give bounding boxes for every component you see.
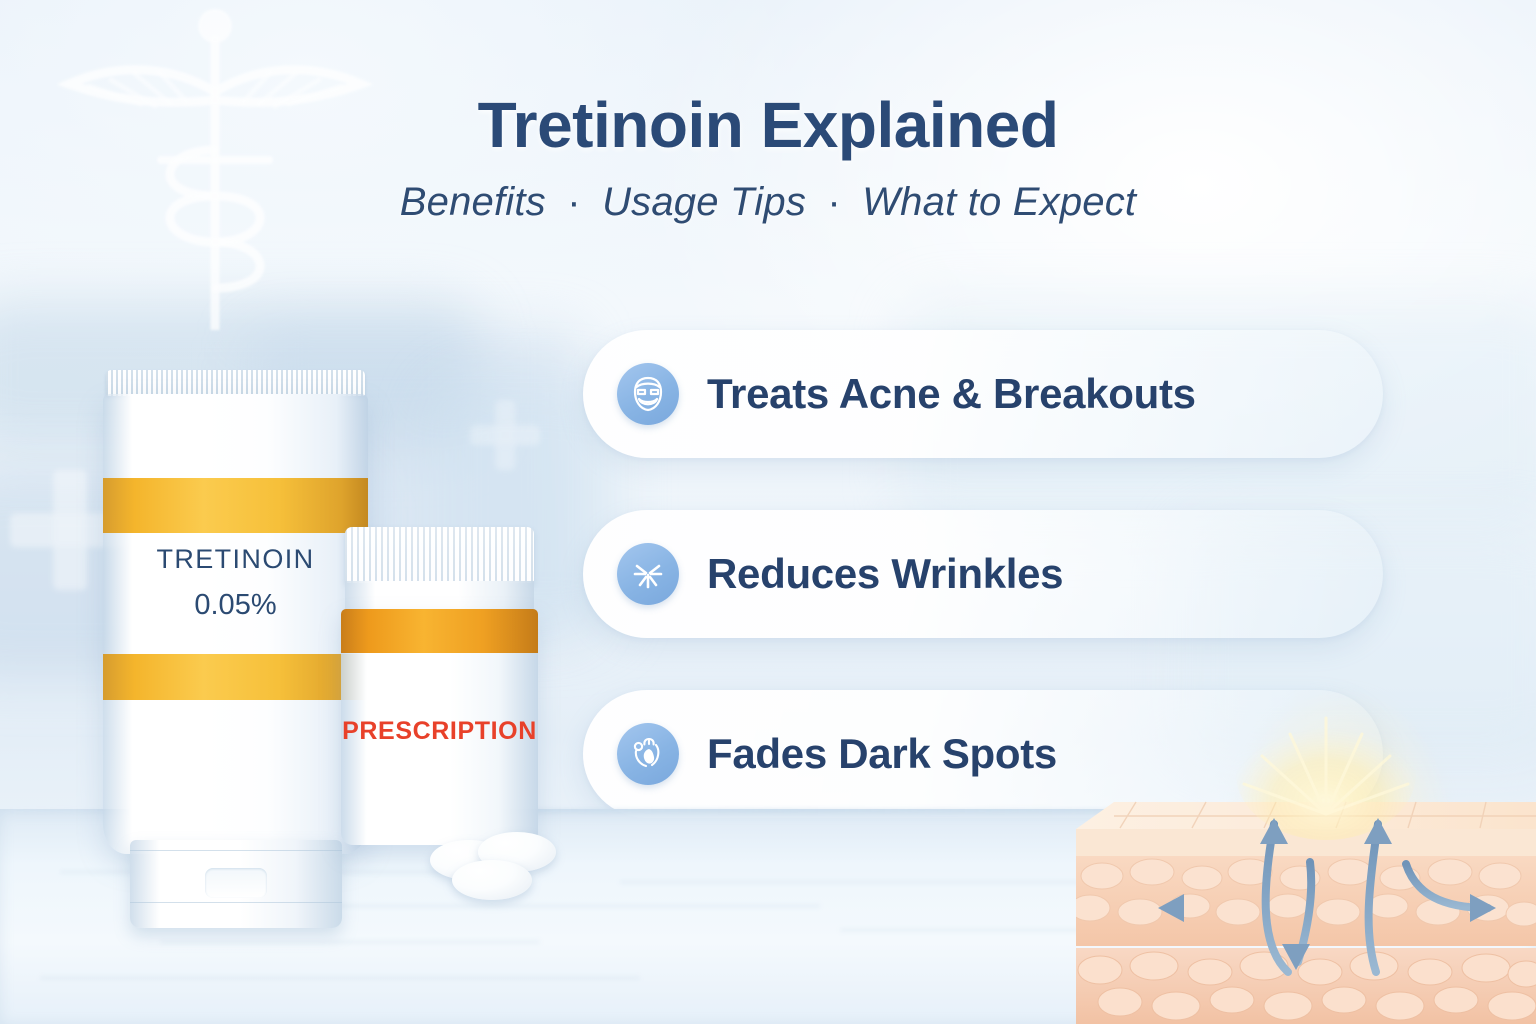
bottle-color-band <box>341 609 538 653</box>
subtitle-part-usage-tips: Usage Tips <box>602 180 806 224</box>
tube-crimp-seal <box>106 370 365 396</box>
skin-sparkle <box>1236 708 1416 840</box>
starburst-icon <box>617 543 679 605</box>
benefit-label: Reduces Wrinkles <box>707 550 1063 598</box>
bottle-neck <box>345 581 534 611</box>
bottle-label-text: PRESCRIPTION <box>341 717 538 746</box>
benefit-card-reduces-wrinkles[interactable]: Reduces Wrinkles <box>583 510 1383 638</box>
bottle-cap <box>345 527 534 583</box>
tube-cap-nub <box>205 868 267 898</box>
tretinoin-cream-tube: TRETINOIN 0.05% <box>103 370 368 882</box>
tube-color-band <box>103 654 368 700</box>
benefit-label: Fades Dark Spots <box>707 730 1057 778</box>
tube-product-name: TRETINOIN <box>103 544 368 575</box>
subtitle-part-what-to-expect: What to Expect <box>862 180 1136 224</box>
tube-label: TRETINOIN 0.05% <box>103 544 368 622</box>
tube-cap <box>130 840 342 928</box>
tube-color-band <box>103 478 368 533</box>
face-mask-icon <box>617 363 679 425</box>
product-group: TRETINOIN 0.05% PRESCRIPTION <box>0 0 600 1024</box>
skin-cross-section-diagram <box>1076 694 1536 1024</box>
subtitle-separator: · <box>817 180 851 224</box>
tube-body: TRETINOIN 0.05% <box>103 394 368 854</box>
prescription-pill-bottle: PRESCRIPTION <box>337 527 542 857</box>
benefit-label: Treats Acne & Breakouts <box>707 370 1196 418</box>
benefit-card-treats-acne[interactable]: Treats Acne & Breakouts <box>583 330 1383 458</box>
loose-pill <box>452 860 532 900</box>
infographic-canvas: Tretinoin Explained Benefits · Usage Tip… <box>0 0 1536 1024</box>
bottle-body: PRESCRIPTION <box>341 609 538 845</box>
tube-strength: 0.05% <box>103 589 368 622</box>
skin-cell-icon <box>617 723 679 785</box>
